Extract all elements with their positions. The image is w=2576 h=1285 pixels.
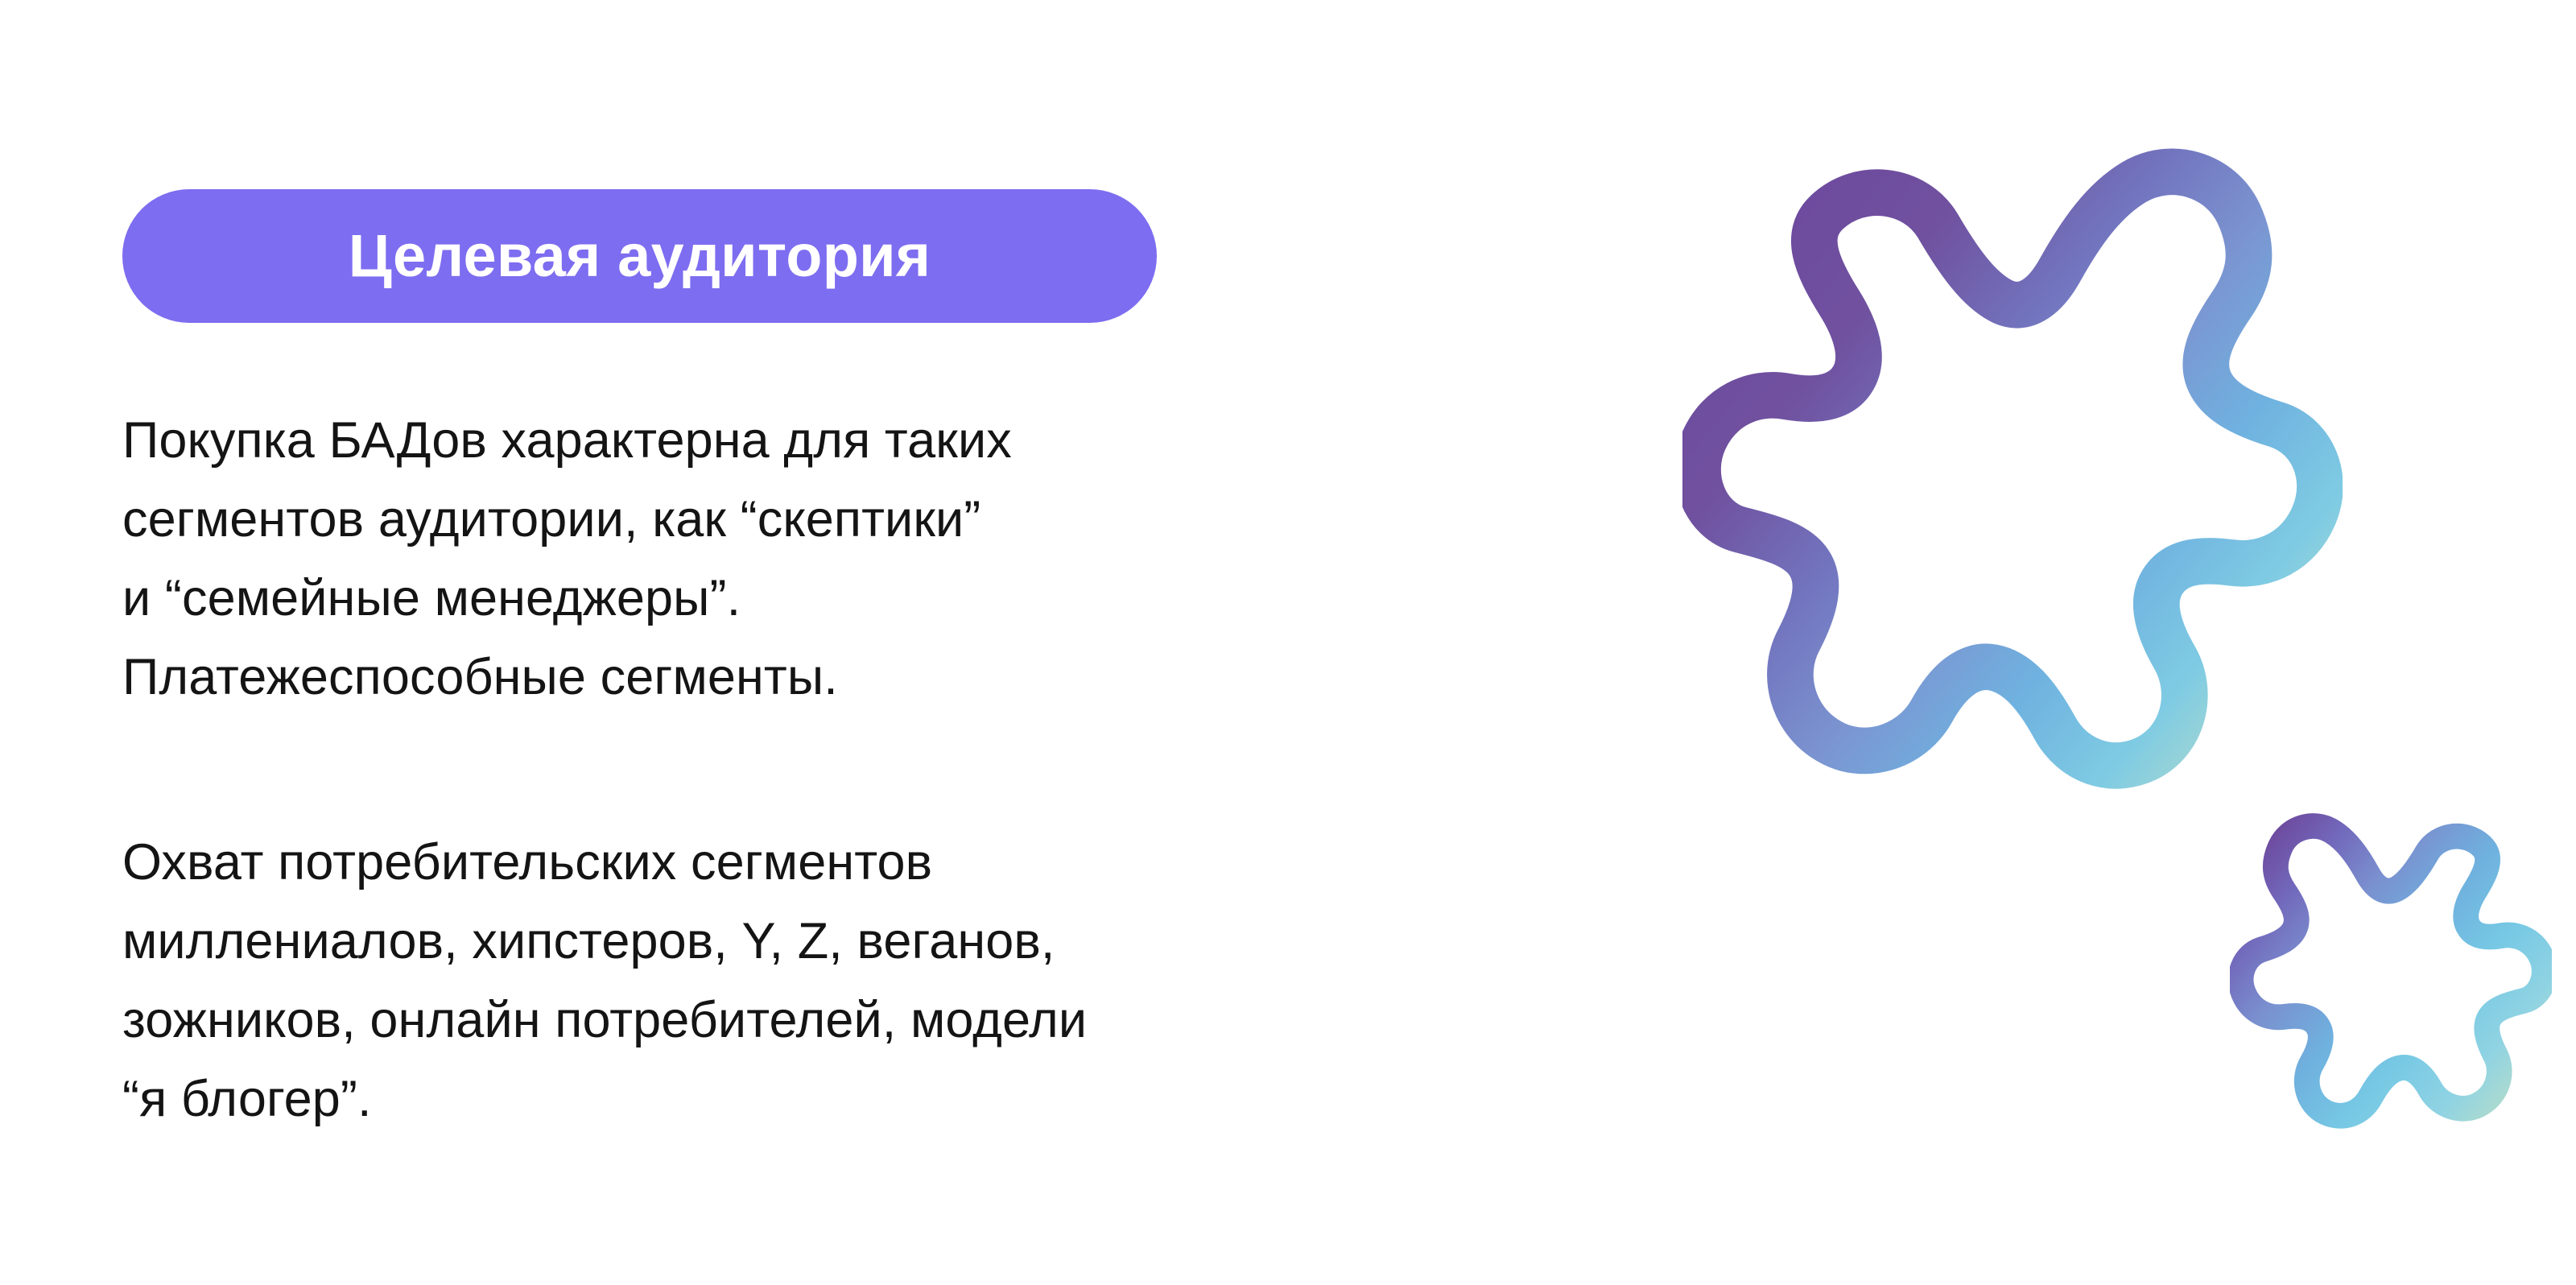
splat-large-decorative-icon [1682,113,2343,805]
paragraph-line: Покупка БАДов характерна для таких [122,401,1012,480]
paragraph-line: зожников, онлайн потребителей, модели [122,981,1087,1060]
paragraph-consumer-reach: Охват потребительских сегментов миллениа… [122,823,1087,1138]
splat-small-decorative-icon [2230,793,2552,1139]
paragraph-audience-segments: Покупка БАДов характерна для таких сегме… [122,401,1012,717]
paragraph-line: Охват потребительских сегментов [122,823,1087,902]
paragraph-line: сегментов аудитории, как “скептики” [122,480,1012,559]
slide-canvas: Целевая аудитория Покупка БАДов характер… [0,0,2576,1285]
section-badge: Целевая аудитория [122,189,1157,323]
paragraph-line: и “семейные менеджеры”. [122,559,1012,638]
paragraph-line: “я блогер”. [122,1060,1087,1138]
text-content-column: Целевая аудитория Покупка БАДов характер… [122,0,1587,1285]
paragraph-line: миллениалов, хипстеров, Y, Z, веганов, [122,902,1087,981]
section-badge-label: Целевая аудитория [349,226,931,286]
paragraph-line: Платежеспособные сегменты. [122,638,1012,717]
